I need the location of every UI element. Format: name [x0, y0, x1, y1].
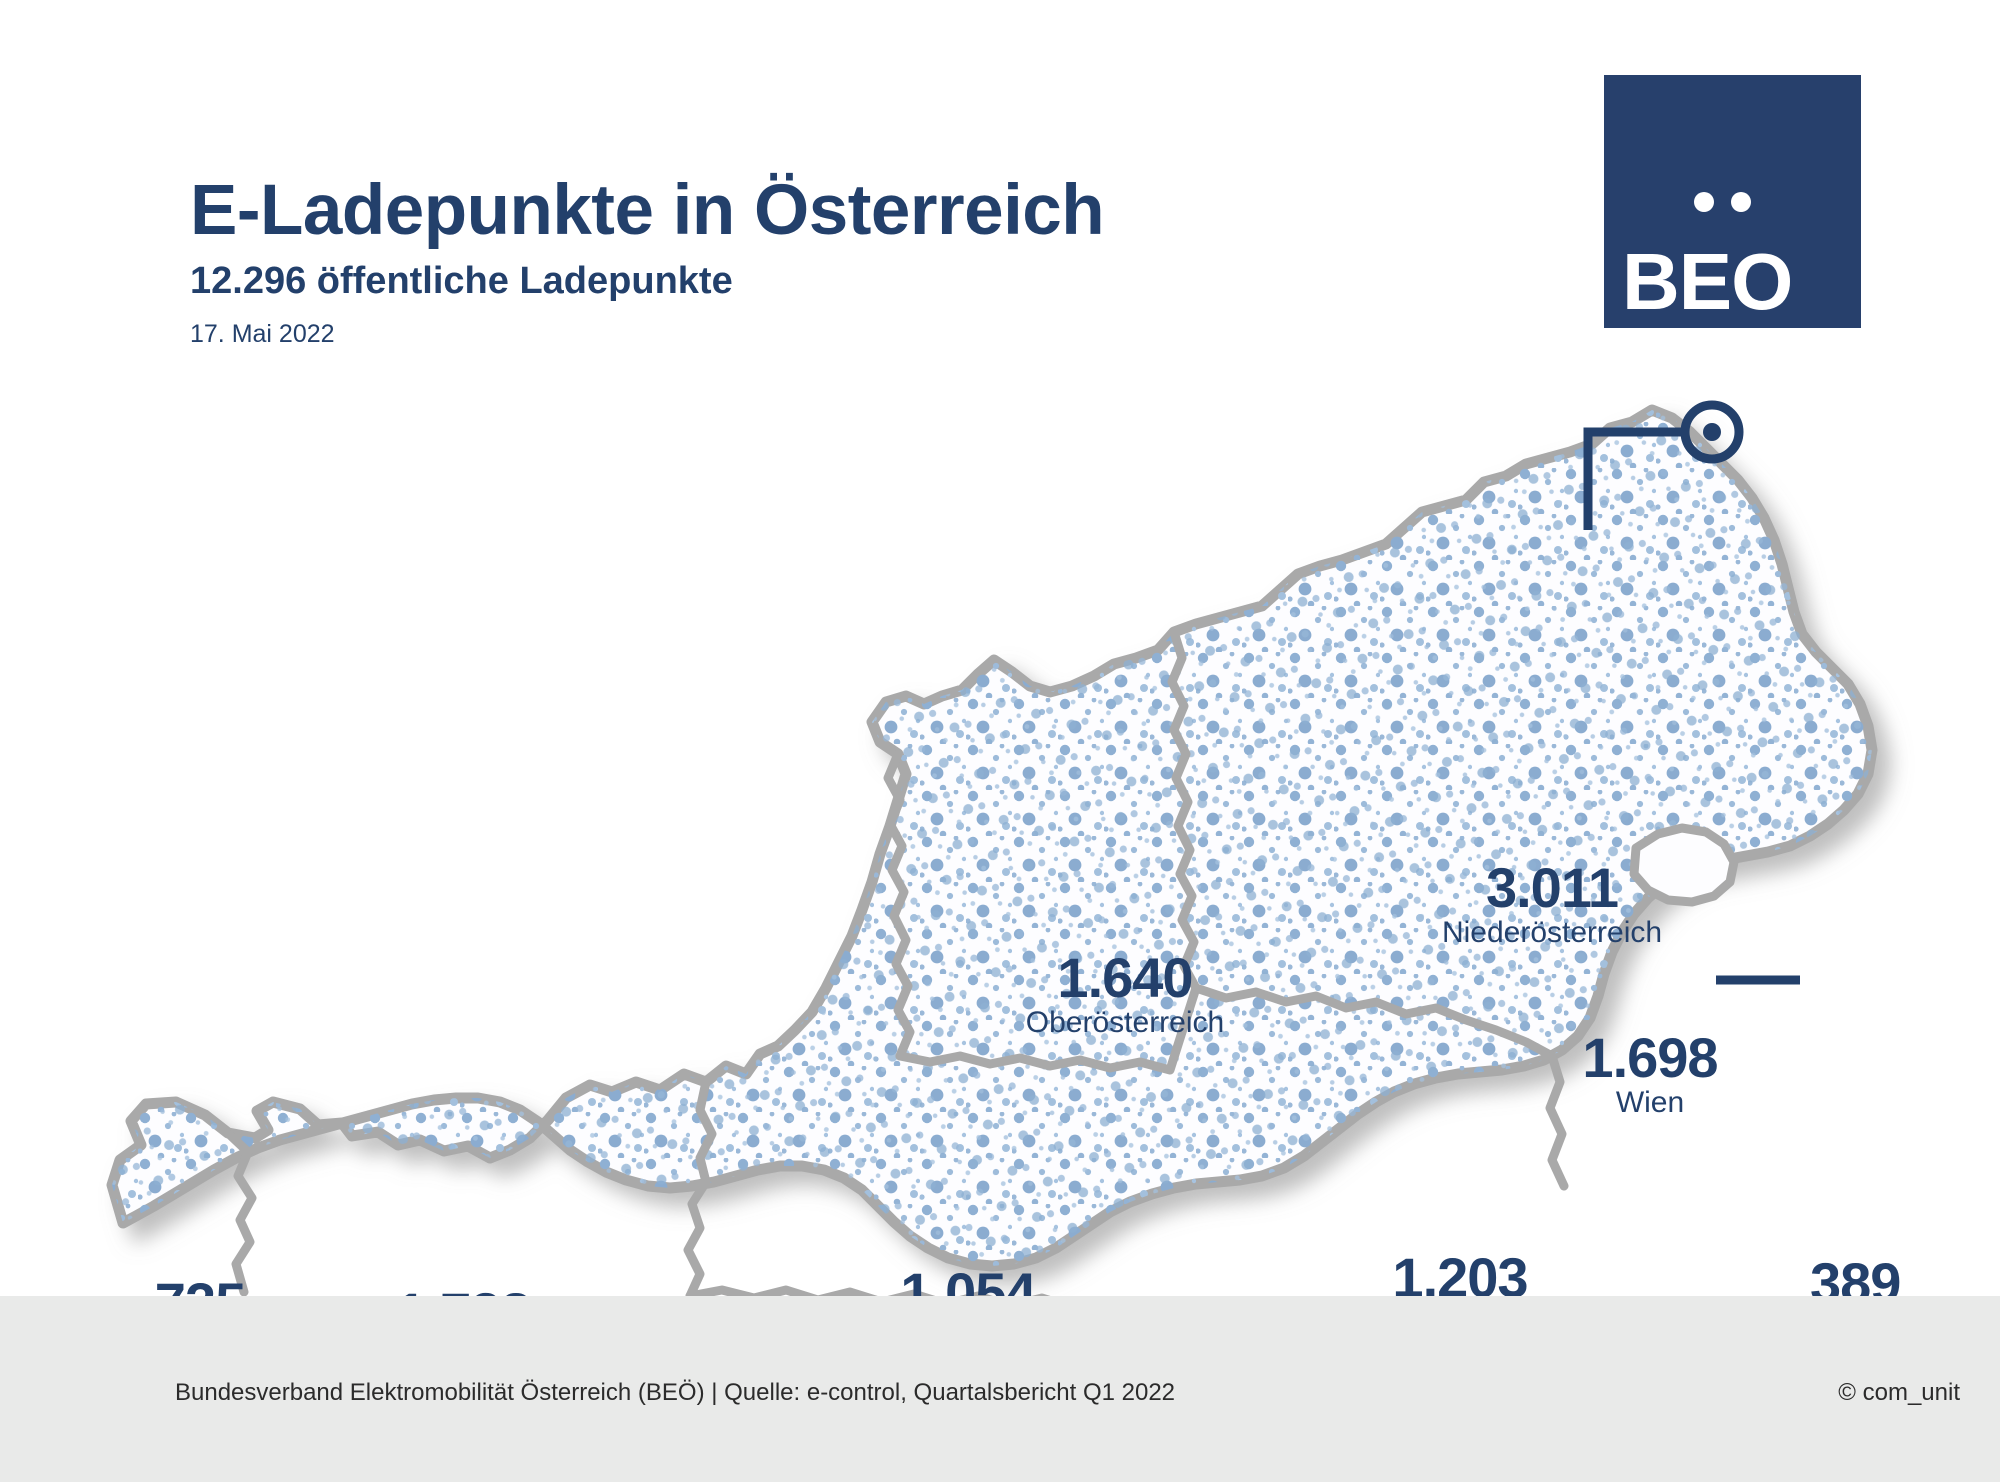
footer-source-text: Bundesverband Elektromobilität Österreic…	[175, 1379, 1175, 1407]
austria-map: 3.011 Niederösterreich 1.640 Oberösterre…	[0, 330, 2000, 1310]
umlaut-dot-right-icon	[1731, 192, 1751, 212]
umlaut-dots-icon	[1694, 192, 1784, 216]
label-niederoesterreich: 3.011 Niederösterreich	[1442, 860, 1662, 948]
beo-logo: BEO	[1604, 75, 1861, 328]
austria-map-svg	[0, 330, 2000, 1310]
charge-point-dots	[0, 330, 2000, 1310]
infographic-page: E-Ladepunkte in Österreich 12.296 öffent…	[0, 0, 2000, 1482]
umlaut-dot-left-icon	[1694, 192, 1714, 212]
border-steiermark-burgenland	[1550, 1056, 1564, 1186]
value-oberoesterreich: 1.640	[1026, 950, 1224, 1006]
name-wien: Wien	[1582, 1088, 1717, 1118]
name-oberoesterreich: Oberösterreich	[1026, 1008, 1224, 1038]
value-wien: 1.698	[1582, 1030, 1717, 1086]
value-niederoesterreich: 3.011	[1442, 860, 1662, 916]
label-oberoesterreich: 1.640 Oberösterreich	[1026, 950, 1224, 1038]
page-subtitle: 12.296 öffentliche Ladepunkte	[190, 262, 1390, 300]
label-wien: 1.698 Wien	[1582, 1030, 1717, 1118]
name-niederoesterreich: Niederösterreich	[1442, 918, 1662, 948]
beo-logo-text: BEO	[1622, 242, 1792, 322]
page-title: E-Ladepunkte in Österreich	[190, 175, 1390, 246]
header: E-Ladepunkte in Österreich 12.296 öffent…	[190, 175, 1390, 347]
footer-credit-text: © com_unit	[1838, 1379, 1960, 1407]
footer-bar: Bundesverband Elektromobilität Österreic…	[0, 1296, 2000, 1482]
